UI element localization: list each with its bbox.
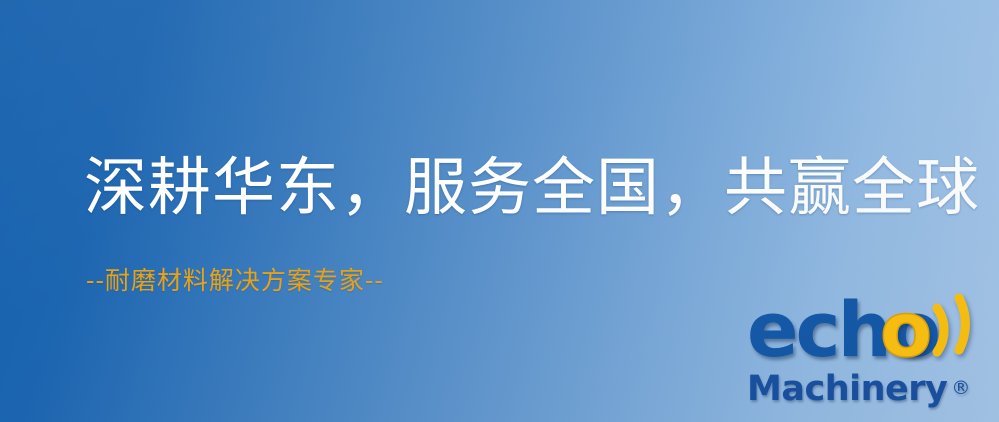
logo-machinery-text: Machinery®	[747, 368, 970, 409]
banner-headline: 深耕华东，服务全国，共赢全球	[84, 152, 980, 224]
logo-wordmark: echo o	[745, 296, 999, 372]
registered-trademark-icon: ®	[951, 377, 970, 399]
echo-wave-arcs-icon	[915, 292, 999, 362]
company-logo[interactable]: echo o Machinery®	[745, 296, 999, 422]
banner-subtitle: --耐磨材料解决方案专家--	[86, 266, 384, 296]
logo-machinery-label: Machinery	[747, 369, 947, 409]
hero-banner: 深耕华东，服务全国，共赢全球 --耐磨材料解决方案专家-- echo o Mac…	[0, 0, 999, 422]
